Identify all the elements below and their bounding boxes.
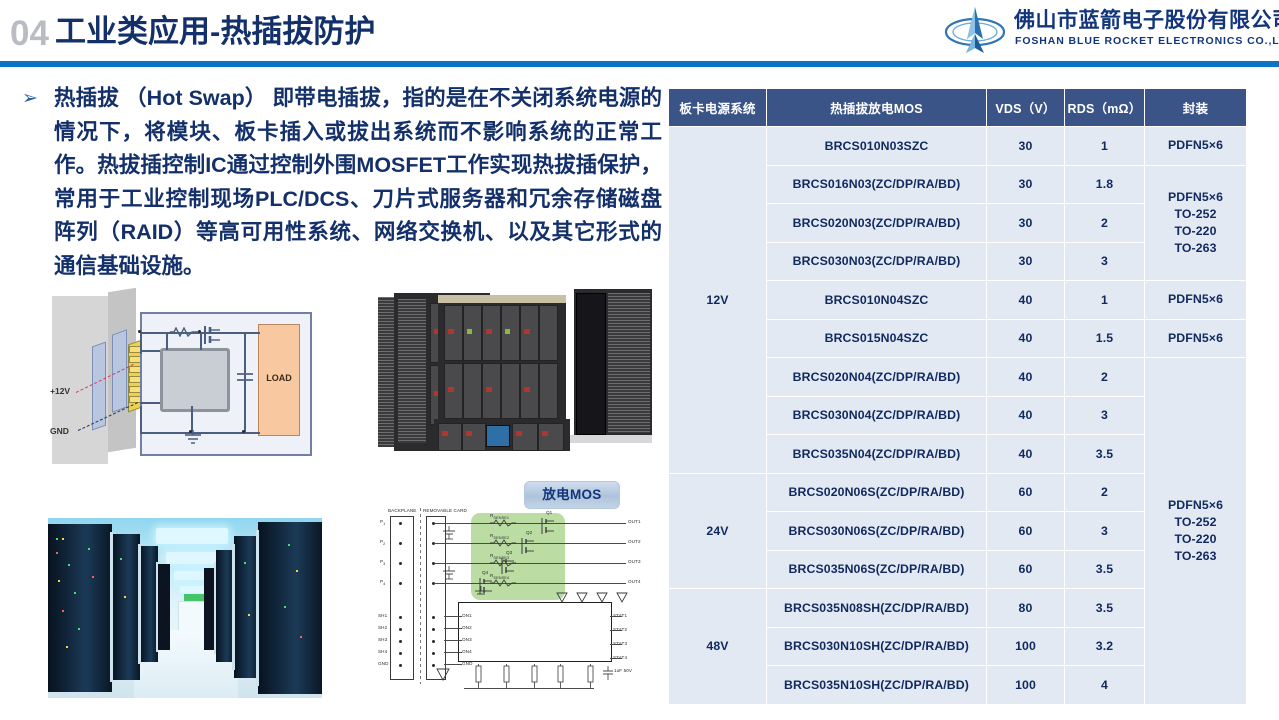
cell-package: PDFN5×6 bbox=[1145, 319, 1247, 358]
circuit-wire bbox=[191, 406, 193, 432]
rack-led bbox=[62, 538, 64, 540]
col-header-vds: VDS（V） bbox=[987, 89, 1065, 127]
cell-rds: 1 bbox=[1065, 127, 1145, 166]
discharge-mosfet-q3 bbox=[498, 556, 518, 576]
server-led-red bbox=[542, 431, 548, 436]
cell-mos: BRCS010N04SZC bbox=[767, 281, 987, 320]
input-capacitor bbox=[442, 526, 456, 542]
col-header-mos: 热插拔放电MOS bbox=[767, 89, 987, 127]
server-side-grill bbox=[378, 297, 394, 447]
ceiling-light bbox=[166, 552, 220, 564]
server-blade bbox=[539, 363, 558, 419]
card-pin bbox=[432, 652, 435, 655]
cell-vds: 40 bbox=[987, 358, 1065, 397]
rack-frame bbox=[138, 544, 141, 664]
mosfet-ref-q2: Q2 bbox=[526, 530, 532, 535]
cell-vds: 80 bbox=[987, 589, 1065, 628]
cell-power-system: 24V bbox=[669, 473, 767, 589]
rack-led bbox=[288, 544, 290, 546]
server-blade bbox=[501, 305, 520, 361]
arrow-bullet-icon: ➢ bbox=[22, 89, 44, 111]
cell-mos: BRCS030N06S(ZC/DP/RA/BD) bbox=[767, 512, 987, 551]
cell-vds: 40 bbox=[987, 281, 1065, 320]
cell-vds: 30 bbox=[987, 127, 1065, 166]
load-block: LOAD bbox=[258, 324, 300, 436]
ic-pin-on4: ON4 bbox=[462, 649, 472, 654]
output-label: OUT2 bbox=[628, 539, 641, 544]
server-led-red bbox=[486, 387, 492, 392]
load-label: LOAD bbox=[259, 373, 299, 383]
backplane-pin bbox=[399, 652, 402, 655]
circuit-ground-symbol bbox=[184, 430, 202, 446]
server-rack bbox=[48, 524, 112, 692]
circuit-wire bbox=[166, 332, 168, 350]
circuit-mosfet-symbol bbox=[202, 324, 224, 346]
output-rail bbox=[564, 523, 626, 524]
server-led-red bbox=[448, 387, 454, 392]
output-label: OUT3 bbox=[628, 559, 641, 564]
cell-mos: BRCS030N03(ZC/DP/RA/BD) bbox=[767, 242, 987, 281]
rack-led bbox=[92, 576, 94, 578]
server-module bbox=[462, 423, 486, 451]
rack-led bbox=[300, 636, 302, 638]
rack-led bbox=[296, 570, 298, 572]
junction-dot bbox=[138, 330, 141, 333]
server-right-door bbox=[576, 293, 606, 435]
data-center-scene bbox=[48, 518, 322, 698]
cell-mos: BRCS035N10SH(ZC/DP/RA/BD) bbox=[767, 666, 987, 705]
cell-rds: 1.5 bbox=[1065, 319, 1145, 358]
col-header-package: 封装 bbox=[1145, 89, 1247, 127]
server-blade bbox=[463, 305, 482, 361]
card-pin bbox=[432, 640, 435, 643]
page-title: 工业类应用-热插拔防护 bbox=[55, 11, 375, 53]
cell-rds: 3 bbox=[1065, 512, 1145, 551]
rack-led bbox=[120, 558, 122, 560]
server-module bbox=[438, 423, 462, 451]
discharge-mosfet-q2 bbox=[518, 536, 538, 556]
backplane-label: BACKPLANE bbox=[388, 508, 416, 513]
rack-frame bbox=[256, 530, 259, 686]
backplane-pin bbox=[399, 562, 402, 565]
cell-mos: BRCS020N04(ZC/DP/RA/BD) bbox=[767, 358, 987, 397]
backplane-pin bbox=[399, 664, 402, 667]
output-label: OUT4 bbox=[628, 579, 641, 584]
data-center-aisle-photo bbox=[48, 518, 322, 698]
card-edge-divider bbox=[420, 508, 421, 684]
server-led-red bbox=[442, 431, 448, 436]
mosfet-ref-q3: Q3 bbox=[506, 550, 512, 555]
server-vent bbox=[398, 299, 426, 443]
table-body: 12VBRCS010N03SZC301PDFN5×6BRCS016N03(ZC/… bbox=[669, 127, 1247, 705]
discharge-mosfet-q4 bbox=[476, 576, 496, 596]
company-name-cn: 佛山市蓝箭电子股份有限公司 bbox=[1014, 8, 1279, 34]
supply-label: +12V bbox=[50, 386, 70, 396]
cell-mos: BRCS020N06S(ZC/DP/RA/BD) bbox=[767, 473, 987, 512]
output-rail bbox=[564, 583, 626, 584]
server-blade bbox=[463, 363, 482, 419]
mosfet-ref-q4: Q4 bbox=[482, 570, 488, 575]
table-header-row: 板卡电源系统 热插拔放电MOS VDS（V） RDS（mΩ） 封装 bbox=[669, 89, 1247, 127]
backplane-net-label: SH4 bbox=[378, 649, 387, 654]
page-number: 04 bbox=[10, 14, 49, 54]
server-rack bbox=[158, 564, 170, 650]
ic-trace bbox=[610, 630, 622, 631]
output-rail bbox=[564, 543, 626, 544]
backplane-net-label: SH1 bbox=[378, 613, 387, 618]
card-pin bbox=[432, 628, 435, 631]
server-lcd-panel bbox=[486, 425, 510, 447]
cell-vds: 30 bbox=[987, 242, 1065, 281]
server-led-red bbox=[466, 431, 472, 436]
cell-package: PDFN5×6TO-252TO-220TO-263 bbox=[1145, 165, 1247, 281]
pullup-resistor bbox=[586, 664, 595, 690]
table-row: 12VBRCS010N03SZC301PDFN5×6 bbox=[669, 127, 1247, 166]
cell-package: PDFN5×6 bbox=[1145, 281, 1247, 320]
cell-vds: 30 bbox=[987, 204, 1065, 243]
cell-vds: 60 bbox=[987, 550, 1065, 589]
ic-pin-on3: ON3 bbox=[462, 637, 472, 642]
cell-rds: 2 bbox=[1065, 204, 1145, 243]
cell-mos: BRCS035N08SH(ZC/DP/RA/BD) bbox=[767, 589, 987, 628]
cell-power-system: 12V bbox=[669, 127, 767, 474]
ic-trace bbox=[610, 644, 622, 645]
col-header-system: 板卡电源系统 bbox=[669, 89, 767, 127]
bypass-capacitor bbox=[602, 666, 614, 684]
server-led-red bbox=[516, 431, 522, 436]
cell-rds: 2 bbox=[1065, 358, 1145, 397]
ground-label: GND bbox=[50, 426, 69, 436]
input-capacitor bbox=[442, 566, 456, 582]
ic-trace bbox=[610, 616, 622, 617]
rack-led bbox=[284, 606, 286, 608]
backplane-net-label: P4 bbox=[380, 579, 385, 586]
rack-led bbox=[66, 646, 68, 648]
cell-package: PDFN5×6TO-252TO-220TO-263 bbox=[1145, 358, 1247, 705]
pullup-resistor bbox=[474, 664, 483, 690]
server-rack bbox=[112, 534, 140, 680]
ic-pin-on2: ON2 bbox=[462, 625, 472, 630]
cell-rds: 3.5 bbox=[1065, 550, 1145, 589]
header-divider bbox=[0, 61, 1279, 67]
backplane-pin bbox=[399, 522, 402, 525]
backplane-net-label: P1 bbox=[380, 519, 385, 526]
blue-rocket-arrow-icon bbox=[944, 5, 1006, 57]
ceiling-light bbox=[156, 528, 228, 544]
sense-resistor-symbol bbox=[490, 539, 516, 548]
server-blade bbox=[501, 363, 520, 419]
ground-bus bbox=[464, 688, 594, 689]
backplane-net-label: GND bbox=[378, 661, 389, 666]
cell-mos: BRCS030N10SH(ZC/DP/RA/BD) bbox=[767, 627, 987, 666]
server-module bbox=[538, 423, 564, 451]
bypass-cap-value: 1uF 50V bbox=[614, 668, 632, 673]
ground-symbol bbox=[436, 668, 450, 682]
cell-rds: 1.8 bbox=[1065, 165, 1145, 204]
cell-vds: 40 bbox=[987, 319, 1065, 358]
server-module bbox=[512, 423, 538, 451]
rack-led bbox=[124, 596, 126, 598]
cell-mos: BRCS010N03SZC bbox=[767, 127, 987, 166]
backplane-net-label: SH3 bbox=[378, 637, 387, 642]
server-rack bbox=[258, 522, 322, 694]
backplane-net-label: P2 bbox=[380, 539, 385, 546]
circuit-wire bbox=[140, 402, 160, 404]
rack-led bbox=[62, 610, 64, 612]
rack-led bbox=[58, 580, 60, 582]
company-logo: 佛山市蓝箭电子股份有限公司 FOSHAN BLUE ROCKET ELECTRO… bbox=[944, 5, 1274, 57]
pullup-resistor bbox=[502, 664, 511, 690]
server-blade bbox=[539, 305, 558, 361]
discharge-mos-callout-label: 放电MOS bbox=[525, 482, 619, 508]
cell-package: PDFN5×6 bbox=[1145, 127, 1247, 166]
server-led-green bbox=[467, 329, 472, 334]
cell-mos: BRCS020N03(ZC/DP/RA/BD) bbox=[767, 204, 987, 243]
cell-rds: 3.5 bbox=[1065, 589, 1145, 628]
rack-led bbox=[56, 552, 58, 554]
rack-frame bbox=[232, 544, 235, 670]
ic-pin-on1: ON1 bbox=[462, 613, 472, 618]
server-led-red bbox=[524, 387, 530, 392]
junction-dot bbox=[242, 430, 245, 433]
hot-swap-circuit-diagram: LOAD bbox=[48, 288, 316, 470]
exit-sign bbox=[184, 594, 204, 601]
server-right-grill bbox=[608, 293, 650, 433]
cell-vds: 40 bbox=[987, 435, 1065, 474]
ground-symbol bbox=[616, 592, 628, 604]
cell-vds: 60 bbox=[987, 473, 1065, 512]
rack-frame bbox=[110, 532, 113, 682]
cell-vds: 60 bbox=[987, 512, 1065, 551]
product-selection-table: 板卡电源系统 热插拔放电MOS VDS（V） RDS（mΩ） 封装 12VBRC… bbox=[668, 88, 1247, 705]
junction-dot bbox=[198, 330, 201, 333]
cell-mos: BRCS030N04(ZC/DP/RA/BD) bbox=[767, 396, 987, 435]
mosfet-ref-q1: Q1 bbox=[546, 510, 552, 515]
removable-card-label: REMOVABLE CARD bbox=[423, 508, 467, 513]
backplane-net-label: SH2 bbox=[378, 625, 387, 630]
ic-trace bbox=[444, 652, 462, 653]
output-rail bbox=[564, 563, 626, 564]
cell-mos: BRCS035N04(ZC/DP/RA/BD) bbox=[767, 435, 987, 474]
description-block: ➢ 热插拔 （Hot Swap） 即带电插拔，指的是在不关闭系统电源的情况下，将… bbox=[16, 82, 662, 283]
backplane-net-label: P3 bbox=[380, 559, 385, 566]
circuit-resistor bbox=[170, 327, 198, 337]
cell-mos: BRCS035N06S(ZC/DP/RA/BD) bbox=[767, 550, 987, 589]
rack-led bbox=[88, 548, 90, 550]
card-pin bbox=[432, 664, 435, 667]
card-pin bbox=[432, 616, 435, 619]
hot-swap-controller-ic bbox=[458, 602, 612, 662]
server-base-rail bbox=[570, 435, 652, 443]
blade-server-chassis-photo bbox=[378, 285, 654, 467]
rack-led bbox=[248, 614, 250, 616]
ic-pin-gnd: GND bbox=[462, 661, 473, 666]
hot-swap-controller-chip bbox=[160, 348, 230, 412]
ic-trace bbox=[444, 616, 462, 617]
circuit-wire bbox=[140, 406, 142, 432]
server-led-red bbox=[486, 329, 492, 334]
server-led-red bbox=[524, 329, 530, 334]
rack-frame bbox=[156, 562, 158, 652]
cell-rds: 3 bbox=[1065, 396, 1145, 435]
rack-led bbox=[74, 592, 76, 594]
ic-trace bbox=[444, 664, 462, 665]
cell-mos: BRCS016N03(ZC/DP/RA/BD) bbox=[767, 165, 987, 204]
rack-led bbox=[244, 562, 246, 564]
server-led-red bbox=[448, 329, 454, 334]
cell-vds: 100 bbox=[987, 666, 1065, 705]
backplane-pin bbox=[399, 628, 402, 631]
rack-led bbox=[56, 538, 58, 540]
hot-swap-controller-schematic: 放电MOS BACKPLANE P1 P2 P3 P4 SH1 SH2 SH3 … bbox=[378, 478, 658, 703]
backplane-connector bbox=[390, 516, 414, 680]
backplane-pin bbox=[399, 640, 402, 643]
rack-led bbox=[78, 628, 80, 630]
cell-rds: 3.5 bbox=[1065, 435, 1145, 474]
cell-rds: 4 bbox=[1065, 666, 1145, 705]
cell-power-system: 48V bbox=[669, 589, 767, 705]
description-paragraph: 热插拔 （Hot Swap） 即带电插拔，指的是在不关闭系统电源的情况下，将模块… bbox=[16, 82, 662, 283]
rack-frame bbox=[214, 562, 216, 654]
discharge-mos-callout: 放电MOS bbox=[524, 481, 620, 509]
cell-vds: 30 bbox=[987, 165, 1065, 204]
ic-trace bbox=[444, 628, 462, 629]
cell-vds: 40 bbox=[987, 396, 1065, 435]
company-name-en: FOSHAN BLUE ROCKET ELECTRONICS CO.,LTD. bbox=[1015, 35, 1279, 48]
cell-rds: 3.2 bbox=[1065, 627, 1145, 666]
junction-dot bbox=[189, 430, 192, 433]
cell-rds: 1 bbox=[1065, 281, 1145, 320]
backplane-pin bbox=[399, 582, 402, 585]
pullup-resistor bbox=[530, 664, 539, 690]
cell-vds: 100 bbox=[987, 627, 1065, 666]
output-label: OUT1 bbox=[628, 519, 641, 524]
circuit-wire bbox=[140, 350, 160, 352]
ic-trace bbox=[610, 658, 622, 659]
cell-mos: BRCS015N04SZC bbox=[767, 319, 987, 358]
col-header-rds: RDS（mΩ） bbox=[1065, 89, 1145, 127]
slide-root: 04 工业类应用-热插拔防护 佛山市蓝箭电子股份有限公司 FOSHAN BLUE… bbox=[0, 0, 1279, 720]
sense-resistor-symbol bbox=[490, 519, 516, 528]
discharge-mosfet-q1 bbox=[538, 516, 558, 536]
server-led-green bbox=[505, 329, 510, 334]
rack-led bbox=[68, 564, 70, 566]
backplane-pin bbox=[399, 542, 402, 545]
pullup-resistor bbox=[556, 664, 565, 690]
backplane-pin bbox=[399, 616, 402, 619]
cell-rds: 2 bbox=[1065, 473, 1145, 512]
circuit-capacitor bbox=[236, 370, 254, 386]
ic-trace bbox=[444, 640, 462, 641]
server-top-panel bbox=[438, 295, 566, 303]
cell-rds: 3 bbox=[1065, 242, 1145, 281]
